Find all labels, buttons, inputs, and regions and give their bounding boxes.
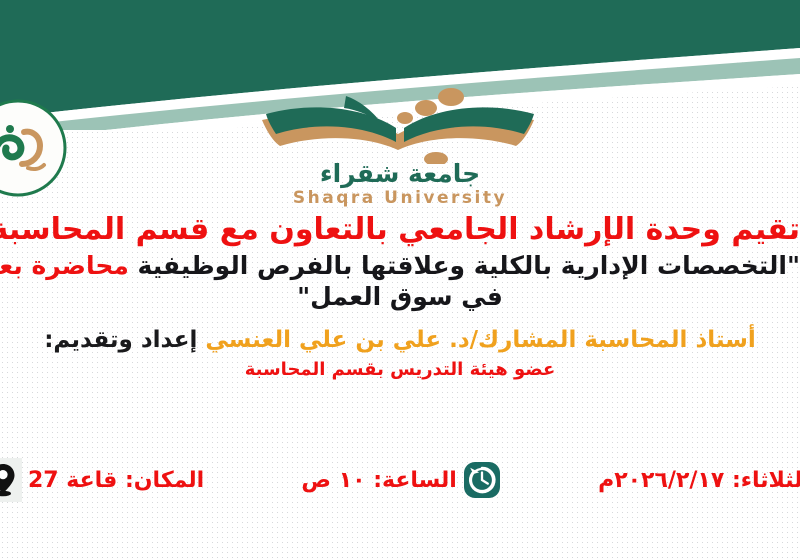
location-pin-icon — [0, 463, 16, 497]
headline-text: تقيم وحدة الإرشاد الجامعي بالتعاون مع قس… — [0, 214, 800, 246]
clock-icon — [463, 461, 501, 499]
event-time-item: الساعة: ١٠ ص — [301, 461, 500, 499]
university-name-wordmark: جامعة شقراء Shaqra University — [250, 162, 550, 208]
presenter-line: أستاذ المحاسبة المشارك/د. علي بن علي الع… — [0, 328, 800, 353]
open-book-logo-icon — [250, 86, 550, 164]
event-place-text: المكان: قاعة 27 — [28, 468, 204, 493]
lecture-subject-line-1: "التخصصات الإدارية بالكلية وعلاقتها بالف… — [0, 252, 800, 279]
presenter-label: إعداد وتقديم: — [44, 327, 197, 353]
university-logo: جامعة شقراء Shaqra University — [0, 86, 800, 211]
location-pin-container — [0, 458, 22, 502]
event-details-bar: الثلاثاء: ٢٠٢٦/٢/١٧م الساعة: ١٠ ص المكان… — [0, 452, 800, 508]
poster-text-content: تقيم وحدة الإرشاد الجامعي بالتعاون مع قس… — [0, 214, 800, 396]
lecture-label: محاضرة بعنوان: — [0, 251, 129, 280]
presenter-affiliation: عضو هيئة التدريس بقسم المحاسبة — [0, 360, 800, 379]
event-date-text: الثلاثاء: ٢٠٢٦/٢/١٧م — [598, 468, 800, 493]
poster-canvas: جامعة شقراء Shaqra University تقيم وحدة … — [0, 0, 800, 560]
event-time-text: الساعة: ١٠ ص — [301, 468, 456, 493]
svg-text:جامعة شقراء: جامعة شقراء — [320, 162, 480, 189]
event-date-item: الثلاثاء: ٢٠٢٦/٢/١٧م — [598, 468, 800, 493]
presenter-name: أستاذ المحاسبة المشارك/د. علي بن علي الع… — [205, 327, 755, 353]
svg-text:Shaqra University: Shaqra University — [293, 188, 507, 208]
lecture-title-line-1: "التخصصات الإدارية بالكلية وعلاقتها بالف… — [138, 251, 800, 280]
event-place-item: المكان: قاعة 27 — [0, 458, 204, 502]
lecture-title-line-2: في سوق العمل" — [0, 283, 800, 310]
